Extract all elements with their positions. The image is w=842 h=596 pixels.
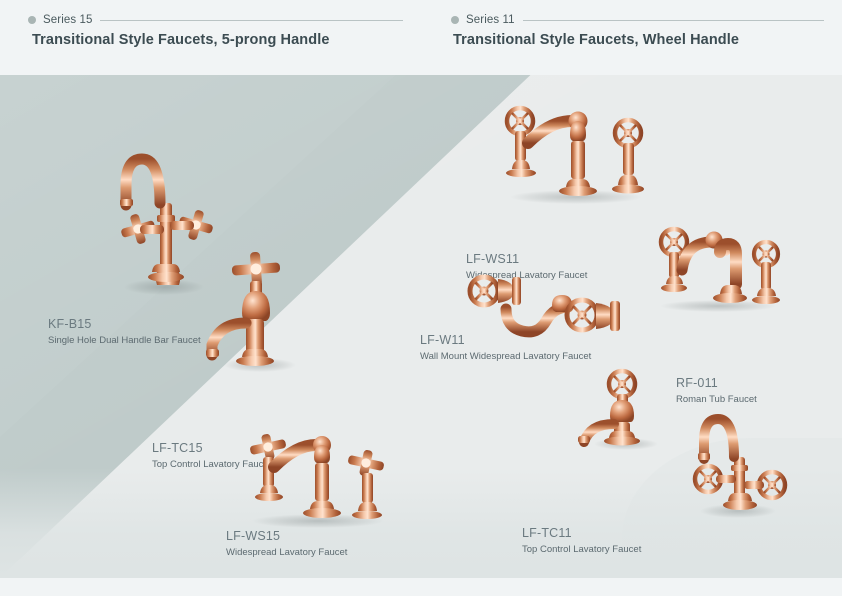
product-desc: Single Hole Dual Handle Bar Faucet	[48, 335, 201, 346]
product-label-lf-w11: LF-W11 Wall Mount Widespread Lavatory Fa…	[420, 333, 591, 362]
wheel-handle-icon	[507, 108, 533, 134]
series-11-label: Series 11	[466, 14, 515, 26]
product-label-kf-b15: KF-B15 Single Hole Dual Handle Bar Fauce…	[48, 317, 201, 346]
header: Series 15 Transitional Style Faucets, 5-…	[0, 0, 842, 75]
product-code: LF-W11	[420, 333, 591, 347]
header-column-series-11: Series 11 Transitional Style Faucets, Wh…	[421, 0, 842, 75]
product-image-kf-b11	[684, 385, 796, 519]
series-15-rule-row: Series 15	[28, 13, 403, 27]
product-desc: Wall Mount Widespread Lavatory Faucet	[420, 351, 591, 362]
product-label-kf-b11: KF-B11	[506, 515, 768, 533]
series-15-label: Series 15	[43, 14, 92, 26]
series-11-rule-row: Series 11	[451, 13, 824, 27]
series-11-title: Transitional Style Faucets, Wheel Handle	[453, 32, 739, 48]
series-15-title: Transitional Style Faucets, 5-prong Hand…	[32, 32, 330, 48]
footer-strip	[0, 578, 842, 596]
wheel-handle-icon	[615, 120, 641, 146]
product-image-lf-tc11	[560, 370, 666, 450]
product-image-rf-011	[652, 220, 788, 312]
wheel-handle-icon	[470, 277, 498, 305]
product-code: LF-WS11	[466, 252, 587, 266]
bullet-dot-icon	[28, 16, 36, 24]
catalog-page: Series 15 Transitional Style Faucets, 5-…	[0, 0, 842, 596]
product-desc: Widespread Lavatory Faucet	[226, 547, 347, 558]
horizontal-rule	[523, 20, 824, 21]
bullet-dot-icon	[451, 16, 459, 24]
horizontal-rule	[100, 20, 403, 21]
header-column-series-15: Series 15 Transitional Style Faucets, 5-…	[0, 0, 421, 75]
product-image-lf-ws11	[500, 105, 662, 203]
product-desc: Top Control Lavatory Faucet	[522, 544, 641, 555]
product-code: LF-WS15	[226, 529, 347, 543]
product-image-lf-ws15	[238, 423, 394, 529]
product-label-lf-ws15: LF-WS15 Widespread Lavatory Faucet	[226, 529, 347, 558]
product-code: KF-B15	[48, 317, 201, 331]
product-image-lf-tc15	[188, 253, 300, 373]
wheel-handle-icon	[609, 371, 635, 397]
product-stage: KF-B15 Single Hole Dual Handle Bar Fauce…	[0, 75, 842, 578]
wheel-handle-icon	[567, 300, 597, 330]
